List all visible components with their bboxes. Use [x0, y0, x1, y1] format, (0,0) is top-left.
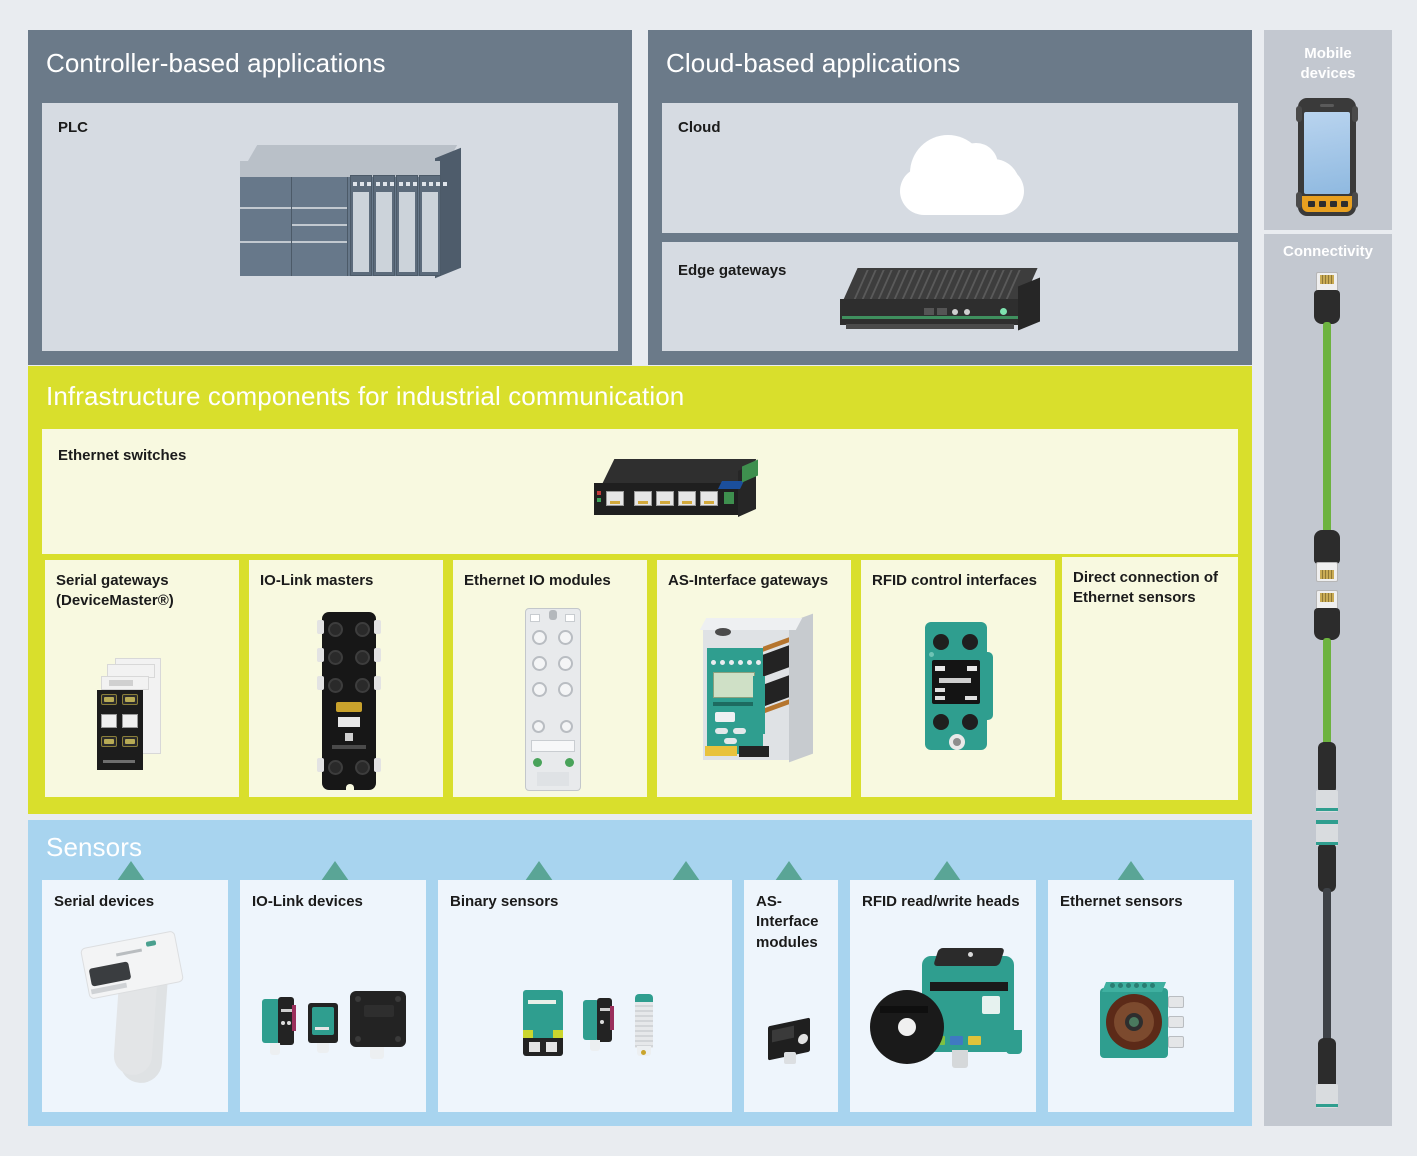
diagram-canvas: Controller-based applications PLC	[0, 0, 1417, 1156]
infra-label-line-2: (DeviceMaster®)	[56, 592, 174, 609]
ethernet-switch-icon	[590, 459, 762, 529]
infra-column-ethernet-io-modules[interactable]: Ethernet IO modules	[450, 557, 650, 800]
ethernet-switches-label: Ethernet switches	[58, 447, 186, 464]
ethernet-switch-section: Ethernet switches	[42, 429, 1238, 554]
ethernet-vision-sensor-icon	[1096, 978, 1196, 1070]
cloud-icon	[892, 121, 1032, 216]
sensor-column-ethernet-sensors[interactable]: Ethernet sensors	[1048, 880, 1234, 1112]
ethernet-cable-icon	[1264, 272, 1392, 1118]
sensor-column-label: Binary sensors	[450, 892, 710, 912]
ethernet-io-module-icon	[515, 608, 591, 793]
cloud-panel-title: Cloud-based applications	[666, 48, 960, 79]
io-link-master-icon	[314, 612, 384, 792]
sensor-column-io-link-devices[interactable]: IO-Link devices	[240, 880, 426, 1112]
cloud-label: Cloud	[678, 119, 721, 136]
serial-gateway-icon	[91, 658, 191, 773]
infrastructure-band-title: Infrastructure components for industrial…	[46, 381, 684, 412]
cloud-section: Cloud	[662, 103, 1238, 233]
infra-column-direct-ethernet[interactable]: Direct connection of Ethernet sensors	[1062, 557, 1238, 800]
as-interface-gateway-icon	[689, 618, 819, 763]
edge-gateway-section: Edge gateways	[662, 242, 1238, 351]
infra-column-label: RFID control interfaces	[872, 571, 1052, 591]
plc-label: PLC	[58, 119, 88, 136]
mobile-title-line-1: Mobile	[1304, 45, 1352, 62]
barcode-scanner-icon	[72, 925, 192, 1090]
infra-column-label: IO-Link masters	[260, 571, 440, 591]
sensor-column-binary-sensors[interactable]: Binary sensors	[438, 880, 732, 1112]
rugged-handheld-icon	[1298, 98, 1358, 218]
sensor-column-label: IO-Link devices	[252, 892, 417, 912]
infra-column-io-link-masters[interactable]: IO-Link masters	[246, 557, 446, 800]
sensor-column-label: AS- Interface modules	[756, 892, 832, 953]
mobile-title-line-2: devices	[1300, 65, 1355, 82]
infra-column-as-interface-gateways[interactable]: AS-Interface gateways	[654, 557, 854, 800]
infra-column-label: Ethernet IO modules	[464, 571, 644, 591]
sensor-column-label: Serial devices	[54, 892, 219, 912]
mobile-devices-title: Mobile devices	[1264, 44, 1392, 83]
as-interface-module-icon	[762, 1008, 824, 1070]
connectivity-title: Connectivity	[1264, 242, 1392, 262]
sensor-label-line-1: AS-	[756, 893, 782, 910]
rfid-control-interface-icon	[915, 622, 1007, 762]
infrastructure-band: Infrastructure components for industrial…	[28, 366, 1252, 814]
infra-column-label: AS-Interface gateways	[668, 571, 848, 591]
plc-rack-icon	[230, 145, 470, 285]
infra-column-label: Direct connection of Ethernet sensors	[1073, 568, 1233, 609]
sensor-column-label: RFID read/write heads	[862, 892, 1030, 912]
controller-panel: Controller-based applications PLC	[28, 30, 632, 365]
mobile-devices-panel: Mobile devices	[1264, 30, 1392, 230]
infra-label-line-2: Ethernet sensors	[1073, 589, 1196, 606]
sensor-label-line-2: Interface	[756, 913, 819, 930]
plc-section: PLC	[42, 103, 618, 351]
sensor-label-line-3: modules	[756, 934, 818, 951]
sensor-column-label: Ethernet sensors	[1060, 892, 1228, 912]
infra-column-label: Serial gateways (DeviceMaster®)	[56, 571, 236, 612]
io-link-sensors-icon	[254, 985, 419, 1080]
sensor-column-as-interface-modules[interactable]: AS- Interface modules	[744, 880, 838, 1112]
infra-label-line-1: Serial gateways	[56, 572, 169, 589]
infra-label-line-1: Direct connection of	[1073, 569, 1218, 586]
infra-column-serial-gateways[interactable]: Serial gateways (DeviceMaster®)	[42, 557, 242, 800]
rfid-read-write-head-icon	[864, 938, 1029, 1083]
sensor-column-serial-devices[interactable]: Serial devices	[42, 880, 228, 1112]
cloud-panel: Cloud-based applications Cloud Edge gate…	[648, 30, 1252, 365]
edge-gateways-label: Edge gateways	[678, 262, 786, 279]
binary-sensors-icon	[523, 980, 668, 1080]
sensor-column-rfid-heads[interactable]: RFID read/write heads	[850, 880, 1036, 1112]
sensors-band-title: Sensors	[46, 832, 142, 863]
controller-panel-title: Controller-based applications	[46, 48, 386, 79]
infra-column-rfid-control-interfaces[interactable]: RFID control interfaces	[858, 557, 1058, 800]
device-brand-label	[930, 982, 1008, 991]
edge-gateway-icon	[840, 268, 1052, 346]
connectivity-panel: Connectivity	[1264, 234, 1392, 1126]
